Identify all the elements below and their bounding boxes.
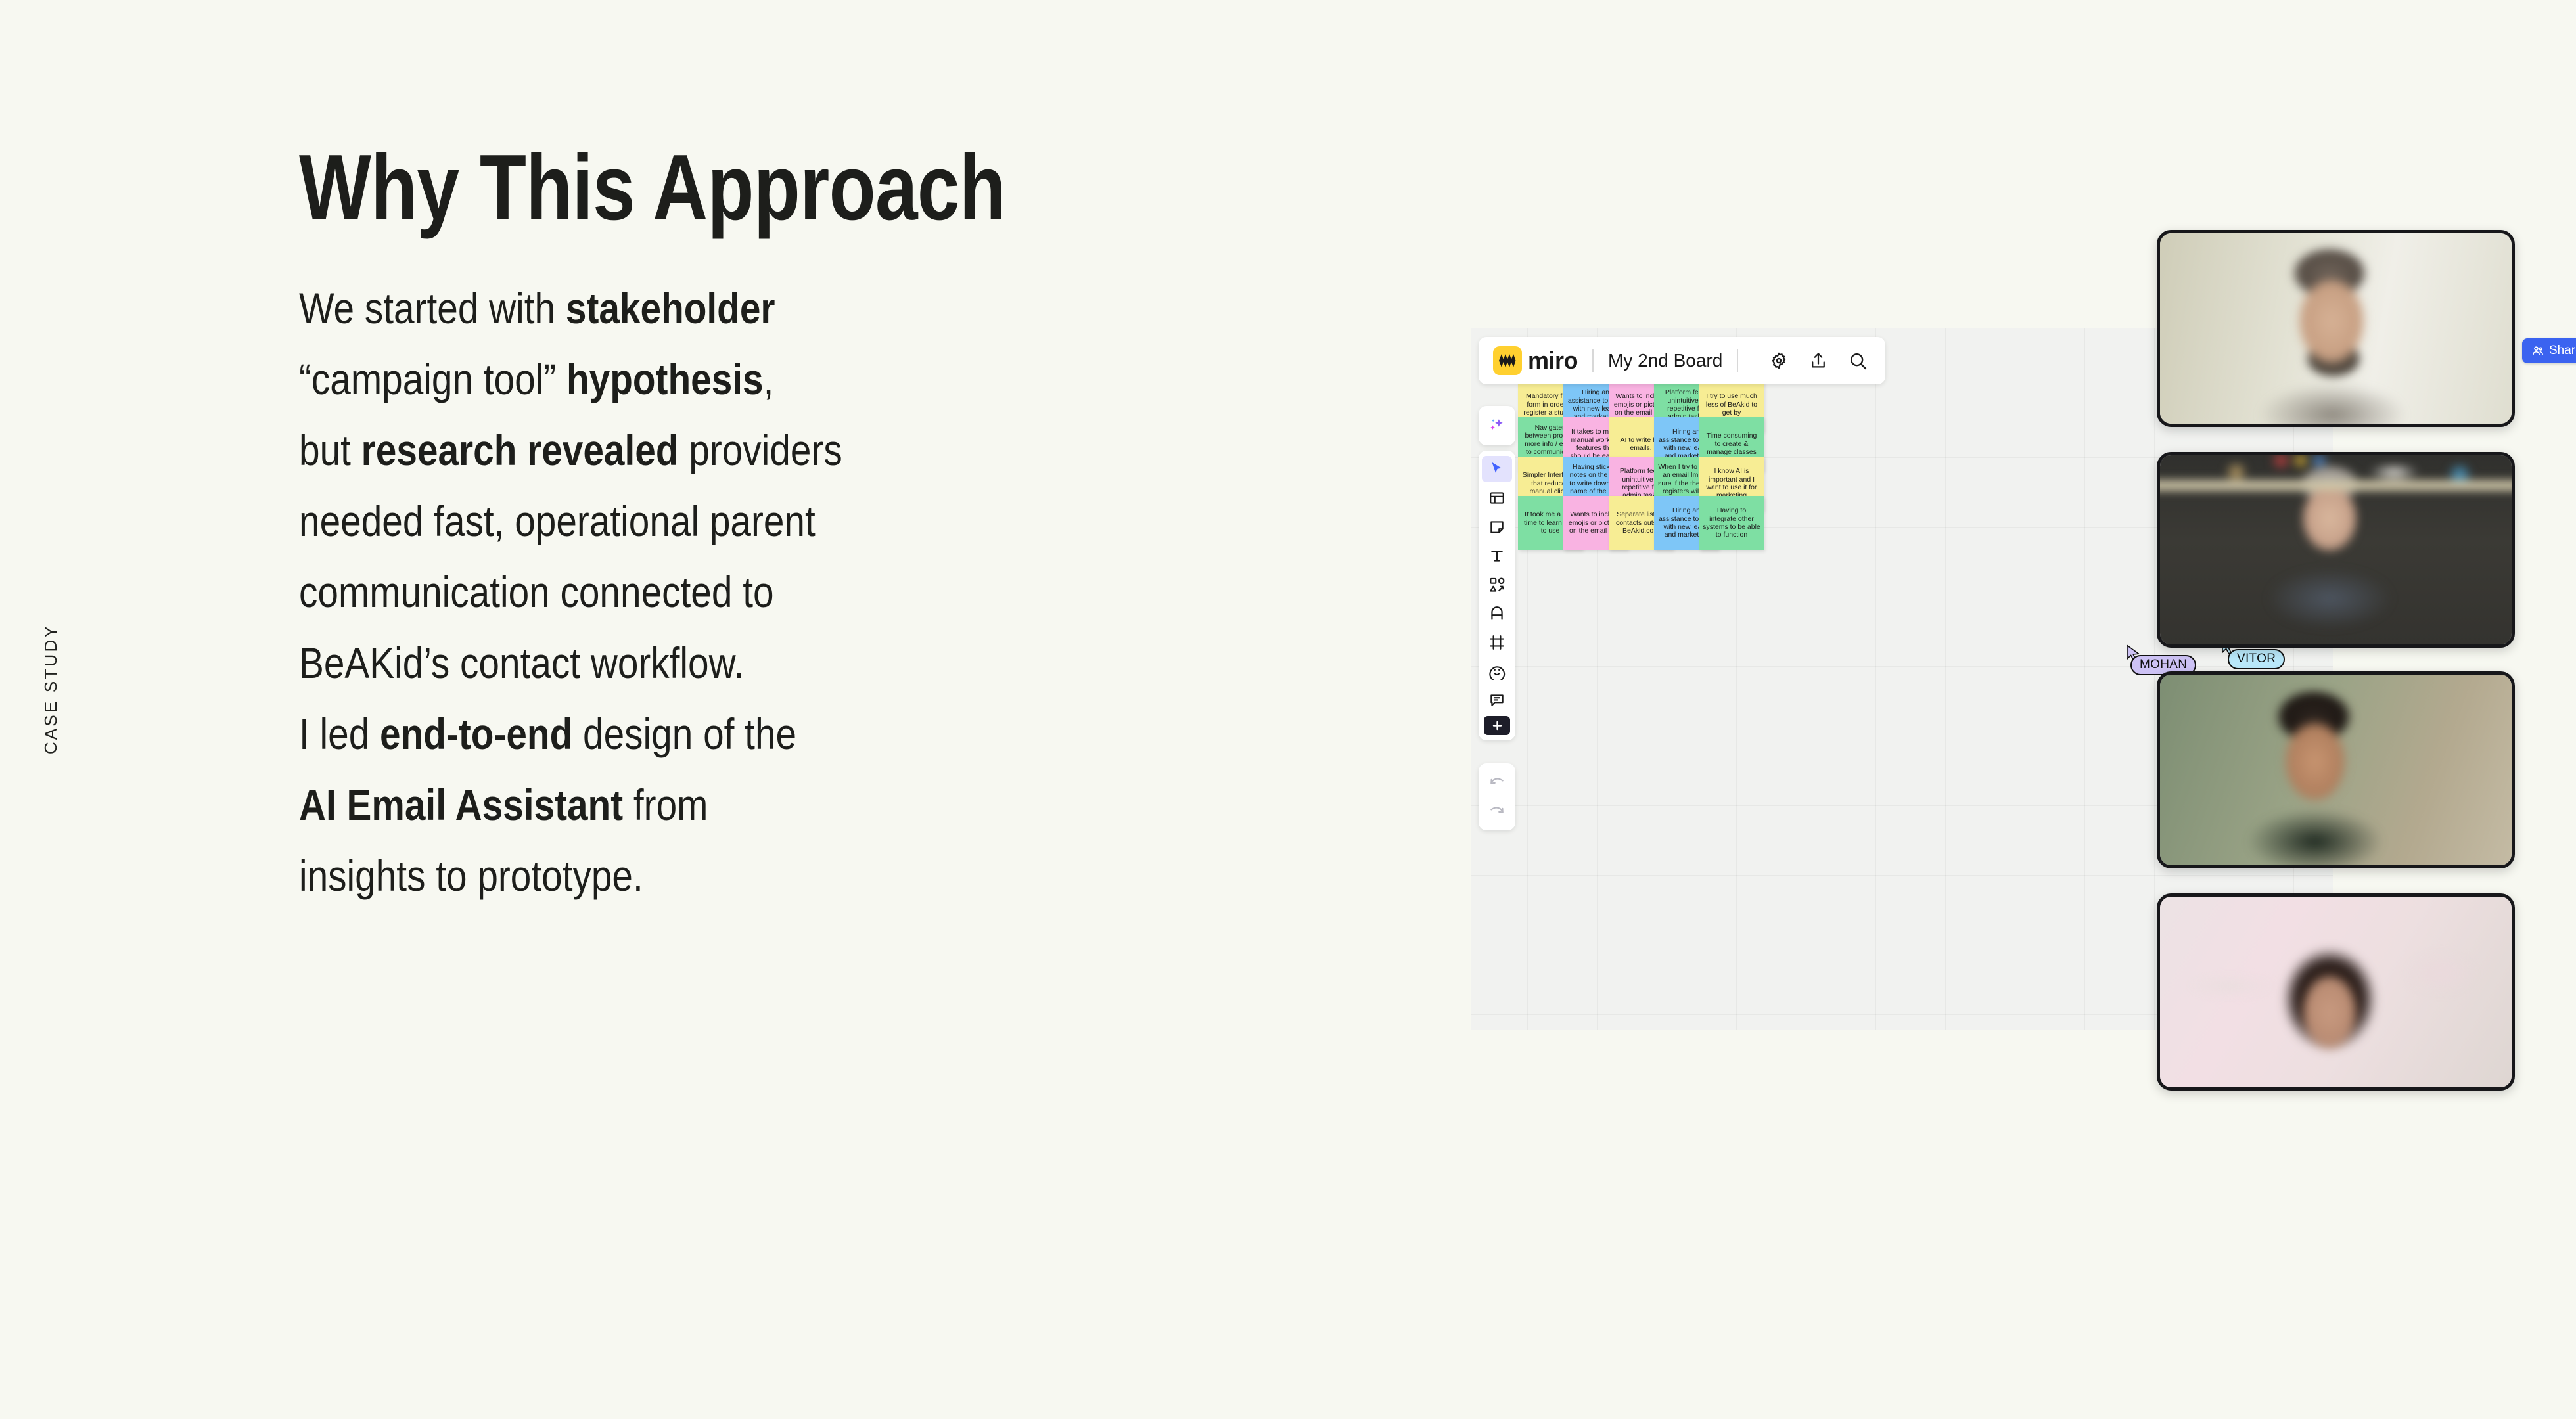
- frame-tool[interactable]: [1482, 629, 1512, 656]
- sticky-note-text: Time consuming to create & manage classe…: [1703, 432, 1760, 456]
- select-cursor-tool[interactable]: [1482, 456, 1512, 482]
- template-tool[interactable]: [1482, 485, 1512, 511]
- miro-logo-icon: [1493, 346, 1522, 375]
- page-title: Why This Approach: [299, 141, 1005, 235]
- body-line-8: AI Email Assistant from: [299, 769, 1260, 840]
- body-line-2: “campaign tool” hypothesis,: [299, 344, 1260, 415]
- body-line-7: I led end-to-end design of the: [299, 698, 1260, 769]
- toolbar-divider-1: [1592, 349, 1594, 372]
- case-study-label: CASE STUDY: [41, 624, 61, 754]
- participant-face-2: [2157, 452, 2515, 648]
- miro-ai-toolbar[interactable]: [1479, 406, 1515, 445]
- body-line-3: but research revealed providers: [299, 415, 1260, 485]
- body-line-4: needed fast, operational parent: [299, 485, 1260, 556]
- toolbar-divider-2: [1737, 349, 1738, 372]
- comment-tool[interactable]: [1482, 687, 1512, 713]
- share-button-label: Share: [2549, 344, 2576, 358]
- sticky-note-tool[interactable]: [1482, 514, 1512, 540]
- body-line-1: We started with stakeholder: [299, 273, 1260, 344]
- share-button[interactable]: Share: [2522, 338, 2576, 363]
- body-line-5: communication connected to: [299, 556, 1260, 627]
- miro-wordmark: miro: [1528, 347, 1578, 374]
- sticky-note-text: I try to use much less of BeAkid to get …: [1703, 392, 1760, 417]
- board-name-label[interactable]: My 2nd Board: [1608, 350, 1722, 371]
- participant-tile-4[interactable]: [2157, 893, 2515, 1091]
- miro-top-toolbar[interactable]: miro My 2nd Board: [1479, 337, 1885, 384]
- more-apps-tool[interactable]: [1484, 716, 1510, 735]
- sticky-note[interactable]: Having to integrate other systems to be …: [1699, 496, 1764, 550]
- participant-tile-3[interactable]: [2157, 671, 2515, 868]
- search-icon[interactable]: [1845, 348, 1871, 374]
- ai-sparkle-tool[interactable]: [1482, 413, 1512, 439]
- body-paragraph: We started with stakeholder“campaign too…: [299, 273, 1260, 911]
- body-line-9: insights to prototype.: [299, 840, 1260, 911]
- participant-face-3: [2157, 671, 2515, 868]
- participant-tile-1[interactable]: [2157, 230, 2515, 427]
- sticker-tool[interactable]: [1482, 658, 1512, 685]
- participant-face-4: [2157, 893, 2515, 1091]
- sticky-note-text: I know AI is important and I want to use…: [1703, 467, 1760, 500]
- body-line-6: BeAKid’s contact workflow.: [299, 627, 1260, 698]
- participant-face-1: [2157, 230, 2515, 427]
- pen-tool[interactable]: [1482, 600, 1512, 627]
- redo-tool[interactable]: [1482, 798, 1512, 824]
- cursor-name-label: VITOR: [2228, 649, 2285, 669]
- people-icon: [2531, 344, 2544, 357]
- miro-history-toolbar[interactable]: [1479, 763, 1515, 830]
- slide-root: CASE STUDY Why This Approach We started …: [0, 0, 2576, 1419]
- participant-tile-2[interactable]: [2157, 452, 2515, 648]
- gear-icon[interactable]: [1766, 348, 1792, 374]
- shapes-tool[interactable]: [1482, 572, 1512, 598]
- miro-main-toolbar[interactable]: [1479, 451, 1515, 740]
- undo-tool[interactable]: [1482, 769, 1512, 796]
- text-tool[interactable]: [1482, 543, 1512, 569]
- sticky-note-text: Having to integrate other systems to be …: [1703, 507, 1760, 539]
- upload-icon[interactable]: [1805, 348, 1831, 374]
